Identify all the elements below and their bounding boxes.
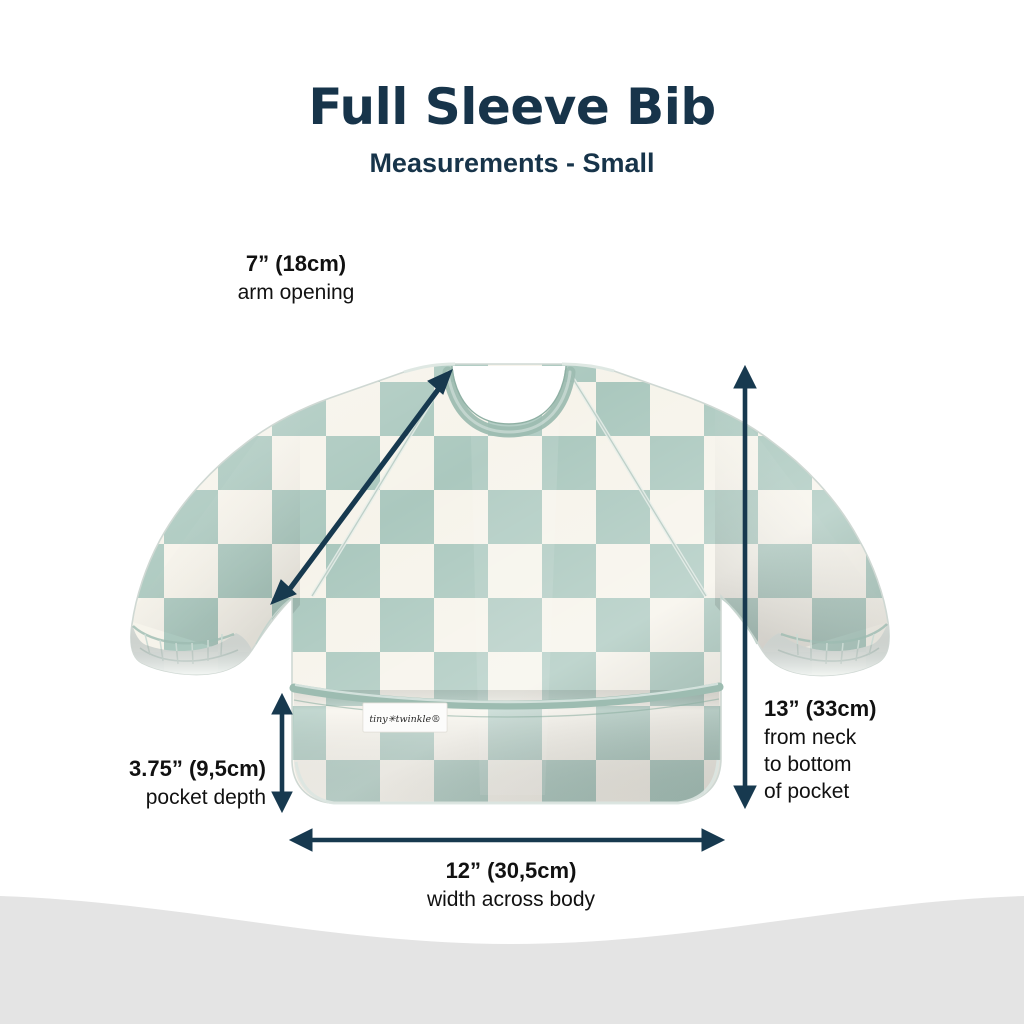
pocket-depth-value: 3.75” (9,5cm): [76, 755, 266, 784]
brand-tag: tiny✳twinkle®: [363, 703, 447, 732]
neck-to-pocket-value: 13” (33cm): [764, 695, 964, 724]
front-pocket: [294, 684, 719, 803]
arrow-double-vertical-icon: [272, 694, 292, 812]
bottom-decorative-band: [0, 880, 1024, 1024]
page-title: Full Sleeve Bib: [0, 78, 1024, 136]
infographic-canvas: tiny✳twinkle®: [0, 0, 1024, 1024]
brand-tag-text: tiny✳twinkle®: [369, 714, 440, 725]
arm-opening-description: arm opening: [186, 279, 406, 306]
neck-to-pocket-line1: from neck: [764, 724, 964, 751]
arm-opening-value: 7” (18cm): [186, 250, 406, 279]
page-subtitle: Measurements - Small: [0, 148, 1024, 179]
pocket-depth-description: pocket depth: [76, 784, 266, 811]
measurement-label-neck-to-pocket: 13” (33cm) from neck to bottom of pocket: [764, 695, 964, 805]
measurement-label-pocket-depth: 3.75” (9,5cm) pocket depth: [76, 755, 266, 811]
measurement-label-arm-opening: 7” (18cm) arm opening: [186, 250, 406, 306]
neck-to-pocket-line2: to bottom: [764, 751, 964, 778]
arrow-double-horizontal-icon: [290, 829, 724, 851]
neck-to-pocket-line3: of pocket: [764, 778, 964, 805]
